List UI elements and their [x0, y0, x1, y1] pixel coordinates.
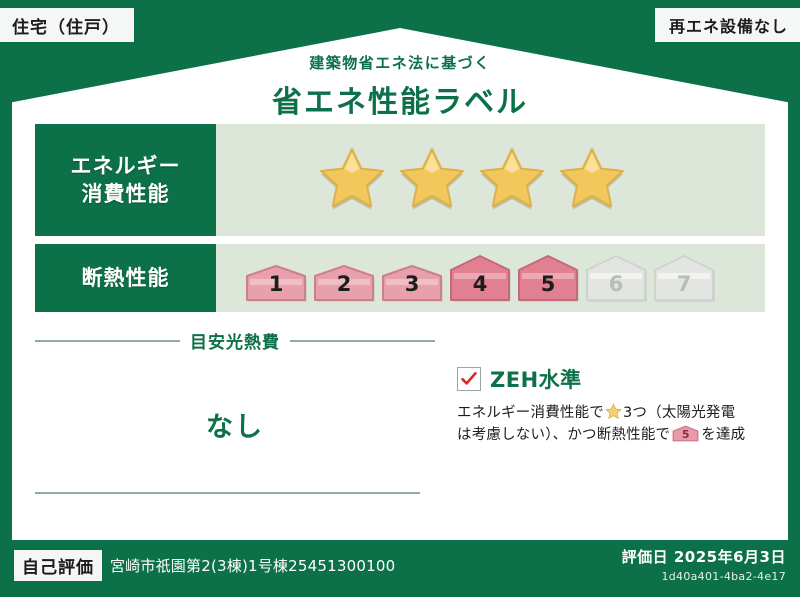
document-id: 1d40a401-4ba2-4e17	[622, 570, 786, 583]
insulation-level-number: 4	[449, 272, 511, 296]
insulation-level-number: 7	[653, 272, 715, 296]
star-icon	[316, 145, 388, 215]
insulation-level-badge: 4	[449, 254, 511, 302]
energy-consumption-label-line2: 消費性能	[82, 180, 170, 208]
zeh-label: ZEH水準	[490, 364, 582, 394]
page-title: 建築物省エネ法に基づく 省エネ性能ラベル	[0, 52, 800, 121]
insulation-level-number: 3	[381, 272, 443, 296]
performance-rows: エネルギー 消費性能 断熱性能 1234567	[35, 124, 765, 320]
self-evaluation-badge: 自己評価	[14, 550, 102, 581]
star-rating	[216, 145, 628, 215]
insulation-label: 断熱性能	[35, 244, 216, 312]
insulation-level-badge: 2	[313, 264, 375, 302]
footer-right: 評価日 2025年6月3日 1d40a401-4ba2-4e17	[622, 546, 786, 583]
zeh-desc-part1: エネルギー消費性能で	[457, 405, 604, 421]
footer-bar: 自己評価 宮崎市祇園第2(3棟)1号棟25451300100 評価日 2025年…	[0, 540, 800, 597]
renewable-equipment-tag: 再エネ設備なし	[655, 8, 800, 42]
heading-rule-left	[35, 340, 180, 342]
zeh-desc-part3: は考慮しない）、かつ断熱性能で	[457, 427, 670, 443]
zeh-description: エネルギー消費性能で3つ（太陽光発電は考慮しない）、かつ断熱性能で5を達成	[457, 402, 765, 447]
title-subtitle: 建築物省エネ法に基づく	[0, 52, 800, 73]
zeh-desc-level-number: 5	[672, 426, 699, 443]
zeh-section: ZEH水準 エネルギー消費性能で3つ（太陽光発電は考慮しない）、かつ断熱性能で5…	[435, 322, 765, 512]
utility-cost-value: なし	[35, 405, 435, 444]
zeh-desc-part2: 3つ（太陽光発電	[623, 405, 735, 421]
insulation-level-badge: 5	[517, 254, 579, 302]
insulation-body: 1234567	[216, 244, 765, 312]
insulation-level-number: 1	[245, 272, 307, 296]
check-icon	[460, 370, 478, 388]
heading-rule-right	[290, 340, 435, 342]
footer-left: 自己評価 宮崎市祇園第2(3棟)1号棟25451300100	[14, 550, 395, 581]
insulation-level-badge: 3	[381, 264, 443, 302]
energy-consumption-body	[216, 124, 765, 236]
star-icon	[476, 145, 548, 215]
renewable-equipment-tag-label: 再エネ設備なし	[669, 13, 788, 37]
zeh-desc-part4: を達成	[701, 427, 745, 443]
lower-panel: 目安光熱費 なし ZEH水準 エネルギー消費性能で3つ（太陽光発電は考慮しない）…	[35, 322, 765, 512]
insulation-row: 断熱性能 1234567	[35, 244, 765, 312]
insulation-level-number: 5	[517, 272, 579, 296]
energy-consumption-label-line1: エネルギー	[71, 152, 181, 180]
zeh-checkbox[interactable]	[457, 367, 481, 391]
evaluation-date: 評価日 2025年6月3日	[622, 546, 786, 567]
title-main: 省エネ性能ラベル	[0, 77, 800, 121]
energy-consumption-label: エネルギー 消費性能	[35, 124, 216, 236]
property-address: 宮崎市祇園第2(3棟)1号棟25451300100	[110, 555, 395, 576]
insulation-level-scale: 1234567	[216, 254, 715, 302]
star-icon	[556, 145, 628, 215]
star-icon	[396, 145, 468, 215]
building-type-tag-label: 住宅（住戸）	[12, 13, 120, 38]
energy-consumption-row: エネルギー 消費性能	[35, 124, 765, 236]
insulation-label-text: 断熱性能	[82, 264, 170, 292]
insulation-level-badge: 6	[585, 254, 647, 302]
zeh-desc-level-badge: 5	[672, 425, 699, 442]
insulation-level-badge: 7	[653, 254, 715, 302]
insulation-level-badge: 1	[245, 264, 307, 302]
insulation-level-number: 6	[585, 272, 647, 296]
utility-cost-section: 目安光熱費 なし	[35, 322, 435, 512]
utility-cost-bottom-rule	[35, 492, 420, 494]
utility-cost-heading: 目安光熱費	[35, 328, 435, 353]
utility-cost-heading-label: 目安光熱費	[190, 328, 280, 353]
zeh-heading: ZEH水準	[457, 364, 765, 394]
star-icon	[605, 403, 622, 420]
insulation-level-number: 2	[313, 272, 375, 296]
building-type-tag: 住宅（住戸）	[0, 8, 134, 42]
